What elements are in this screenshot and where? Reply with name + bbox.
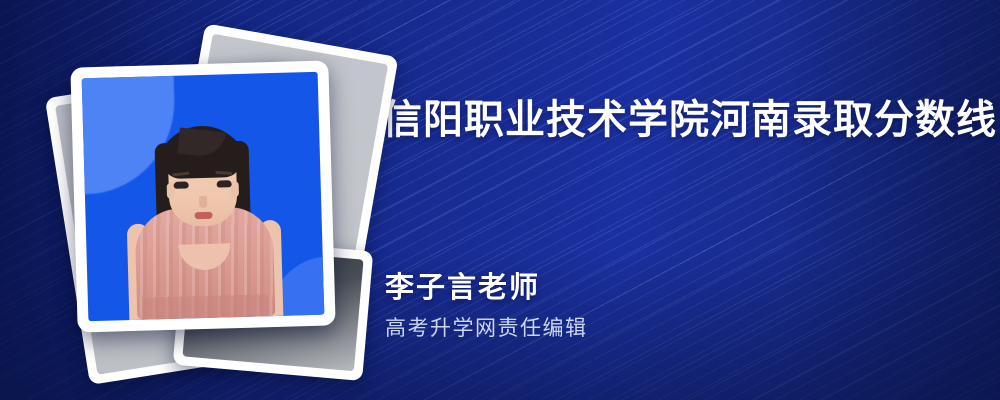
mouth [194,212,212,219]
photo-frame-stack [60,38,350,368]
author-photo [82,72,325,321]
nose [199,196,207,208]
ear-right [231,181,239,197]
portrait-illustration [105,101,301,320]
photo-frame-front [70,60,335,332]
eye-right [217,180,232,187]
author-role: 高考升学网责任编辑 [385,316,805,342]
author-name: 李子言老师 [385,270,805,306]
author-byline: 李子言老师 高考升学网责任编辑 [385,270,805,343]
page-title: 信阳职业技术学院河南录取分数线 [382,96,972,144]
article-header-banner: 信阳职业技术学院河南录取分数线 李子言老师 高考升学网责任编辑 [0,0,1000,400]
eye-left [174,181,189,188]
